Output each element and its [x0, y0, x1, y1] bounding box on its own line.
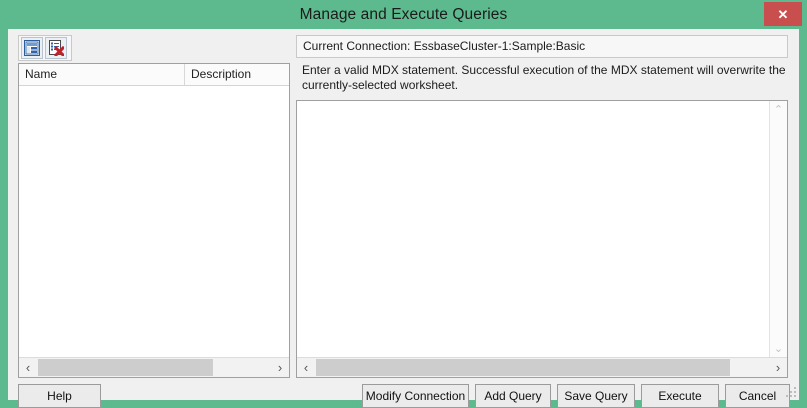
dialog-client-area: Name Description ‹ › Current Connection:…	[8, 29, 799, 400]
dialog-title: Manage and Execute Queries	[0, 0, 807, 29]
query-list-header: Name Description	[19, 64, 289, 86]
mdx-editor-hscrollbar[interactable]: ‹ ›	[297, 357, 787, 377]
query-list-body[interactable]	[19, 86, 289, 356]
query-list-scroll-thumb[interactable]	[38, 359, 213, 376]
query-list-toolbar	[18, 35, 72, 61]
current-connection-field: Current Connection: EssbaseCluster-1:Sam…	[296, 35, 788, 58]
mdx-editor-scroll-down-icon[interactable]: ⌄	[770, 340, 787, 357]
delete-query-icon	[48, 40, 64, 56]
instructions-text: Enter a valid MDX statement. Successful …	[302, 63, 788, 93]
column-header-description[interactable]: Description	[185, 64, 289, 85]
mdx-editor-panel: ⌃ ⌄ ‹ ›	[296, 100, 788, 378]
delete-query-button[interactable]	[45, 37, 67, 59]
mdx-editor-scroll-right-icon[interactable]: ›	[769, 358, 787, 377]
new-query-button[interactable]	[21, 37, 43, 59]
mdx-editor-vscrollbar[interactable]: ⌃ ⌄	[769, 101, 787, 357]
query-list-scroll-right-icon[interactable]: ›	[271, 358, 289, 377]
column-header-name[interactable]: Name	[19, 64, 185, 85]
query-list-panel: Name Description ‹ ›	[18, 63, 290, 378]
title-bar: Manage and Execute Queries ✕	[0, 0, 807, 29]
cancel-button[interactable]: Cancel	[725, 384, 790, 408]
save-query-button[interactable]: Save Query	[557, 384, 635, 408]
resize-grip[interactable]	[783, 384, 796, 397]
new-query-icon	[24, 40, 40, 56]
mdx-editor-scroll-up-icon[interactable]: ⌃	[770, 101, 787, 118]
help-button[interactable]: Help	[18, 384, 101, 408]
add-query-button[interactable]: Add Query	[475, 384, 551, 408]
close-button[interactable]: ✕	[764, 2, 802, 26]
execute-button[interactable]: Execute	[641, 384, 719, 408]
close-icon: ✕	[778, 8, 789, 21]
mdx-editor-scroll-thumb[interactable]	[316, 359, 730, 376]
mdx-editor-scroll-left-icon[interactable]: ‹	[297, 358, 315, 377]
query-list-scroll-left-icon[interactable]: ‹	[19, 358, 37, 377]
mdx-editor-input[interactable]	[297, 101, 769, 357]
modify-connection-button[interactable]: Modify Connection	[362, 384, 469, 408]
query-list-hscrollbar[interactable]: ‹ ›	[19, 357, 289, 377]
dialog-window: Manage and Execute Queries ✕	[0, 0, 807, 408]
